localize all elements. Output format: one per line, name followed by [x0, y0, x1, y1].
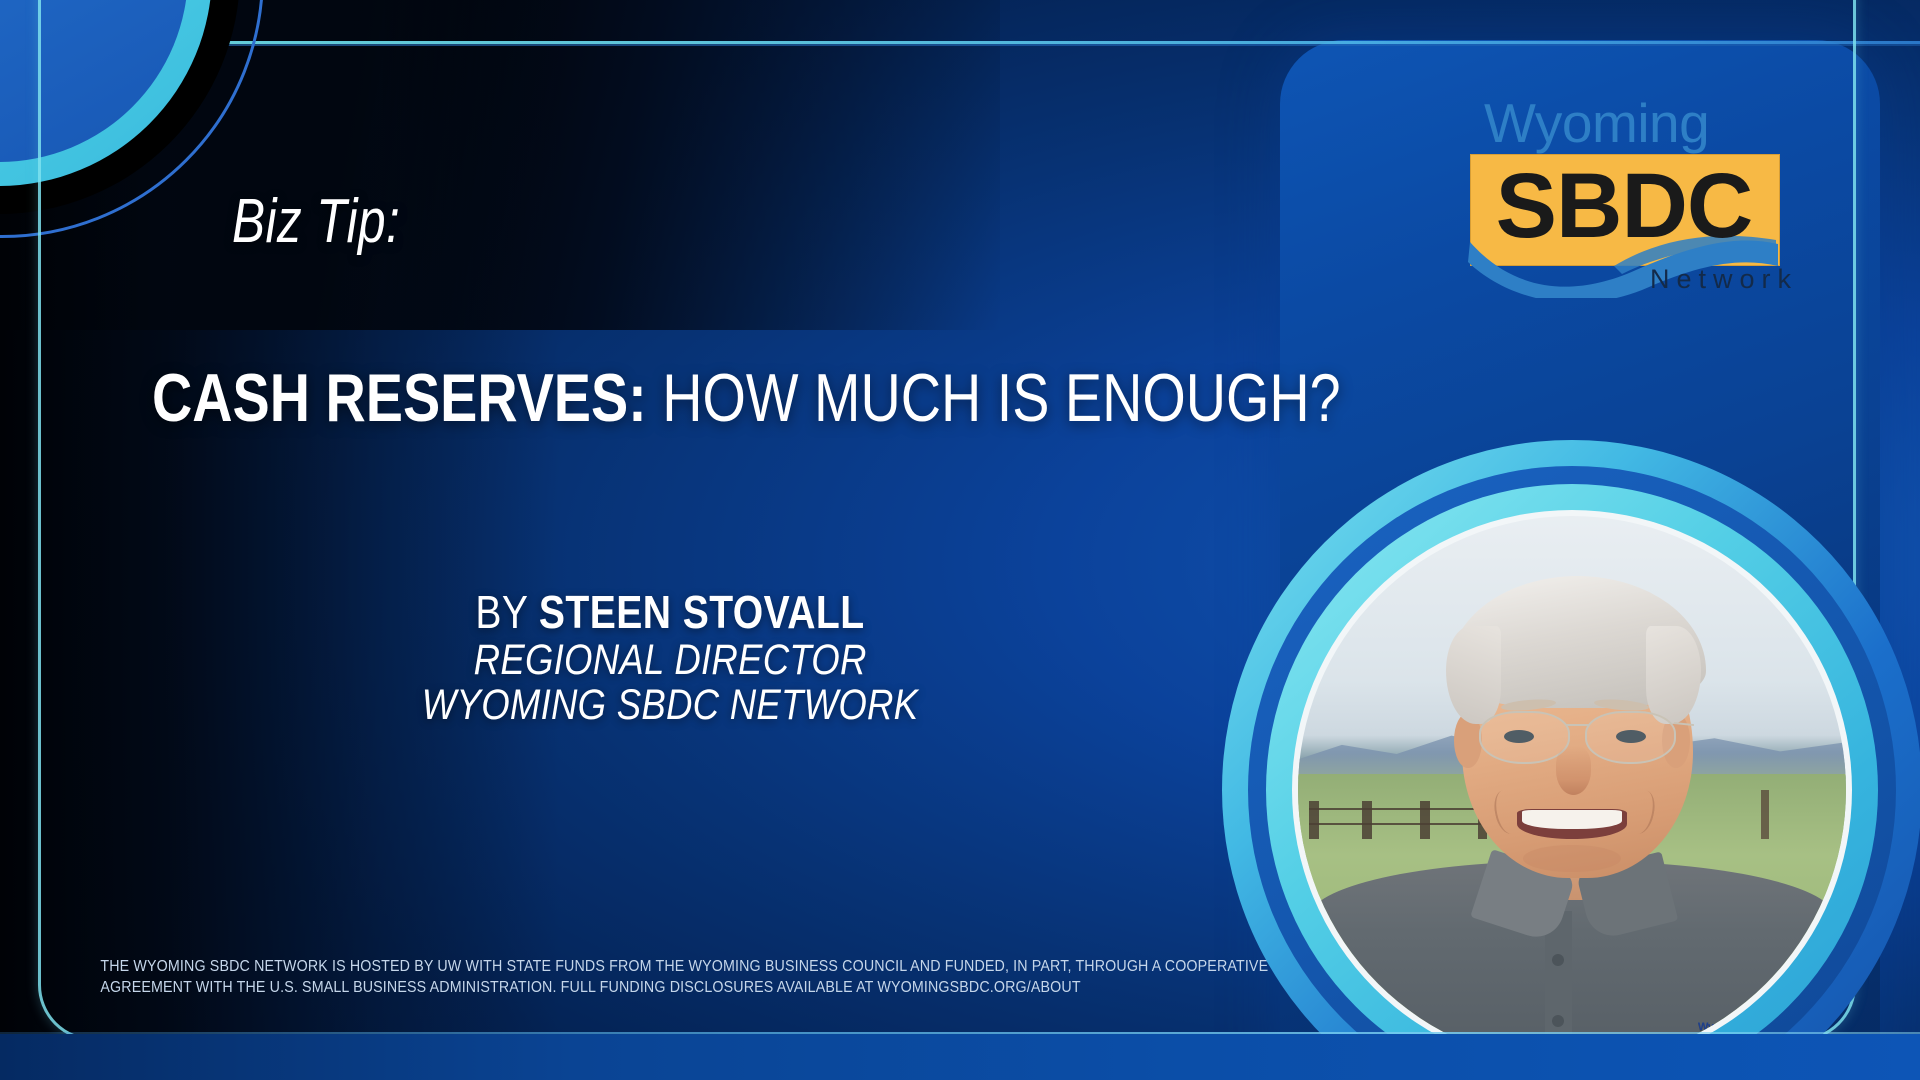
headline-strong: CASH RESERVES:	[152, 360, 647, 436]
funding-disclaimer: THE WYOMING SBDC NETWORK IS HOSTED BY UW…	[100, 957, 1029, 999]
headline-light: HOW MUCH IS ENOUGH?	[647, 360, 1341, 436]
byline-name: STEEN STOVALL	[539, 586, 865, 638]
byline-block: BY STEEN STOVALL REGIONAL DIRECTOR WYOMI…	[0, 588, 1340, 728]
photo-chin	[1523, 845, 1622, 872]
presentation-slide: Biz Tip: CASH RESERVES: HOW MUCH IS ENOU…	[0, 0, 1920, 1080]
page-title: CASH RESERVES: HOW MUCH IS ENOUGH?	[152, 364, 1120, 432]
logo-wordmark-bottom: Network	[1650, 264, 1798, 295]
photo-teeth	[1522, 810, 1623, 829]
wyoming-sbdc-logo: Wyoming SBDC Network	[1470, 96, 1800, 306]
bottom-accent-band	[0, 1034, 1920, 1080]
disclaimer-line-1: THE WYOMING SBDC NETWORK IS HOSTED BY UW…	[100, 957, 1029, 978]
byline-organization: WYOMING SBDC NETWORK	[422, 683, 918, 728]
decorative-ring-cluster	[0, 0, 234, 208]
eyebrow-label: Biz Tip:	[232, 186, 400, 257]
logo-wordmark-top: Wyoming	[1484, 96, 1709, 151]
speaker-portrait: Wyoming SBDC	[1222, 440, 1920, 1080]
portrait-photo: Wyoming SBDC	[1298, 516, 1846, 1064]
byline-prefix: BY	[475, 586, 539, 638]
photo-shirt-button-2	[1552, 1015, 1564, 1027]
disclaimer-line-2: AGREEMENT WITH THE U.S. SMALL BUSINESS A…	[100, 978, 1029, 999]
top-divider-glow	[215, 44, 1920, 46]
logo-acronym: SBDC	[1470, 154, 1778, 264]
byline-role: REGIONAL DIRECTOR	[474, 638, 867, 683]
glasses-lens-right	[1585, 711, 1676, 764]
glasses-lens-left	[1479, 711, 1570, 764]
photo-post	[1761, 790, 1770, 839]
byline-name-line: BY STEEN STOVALL	[475, 588, 864, 638]
glasses-bridge	[1566, 724, 1590, 726]
